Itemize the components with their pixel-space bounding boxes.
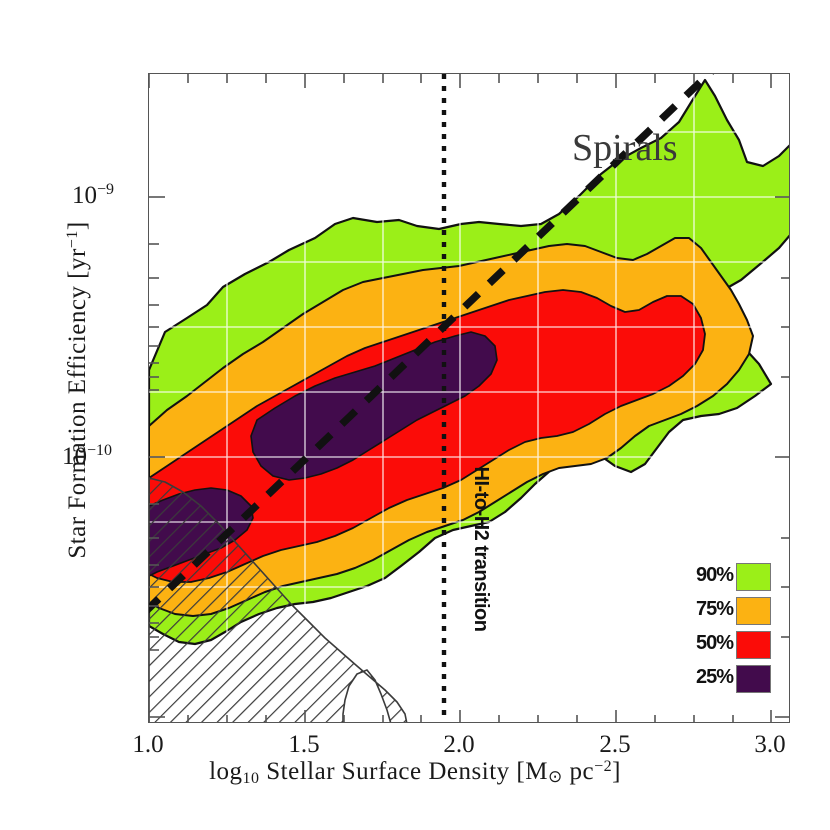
x-axis-label-exponent: −2 [594, 758, 612, 775]
spirals-annotation: Spirals [572, 126, 678, 170]
x-axis-label-subscript: 10 [243, 770, 260, 787]
x-axis-label-unit: pc [563, 758, 594, 785]
y-axis-label-main: Star Formation Efficiency [yr [64, 248, 91, 558]
figure-canvas: Star Formation Efficiency [yr−1] log10 S… [0, 0, 830, 830]
solar-mass-symbol: ⊙ [548, 767, 563, 786]
x-axis-label: log10 Stellar Surface Density [M⊙ pc−2] [0, 758, 830, 788]
legend-swatch-50 [736, 631, 771, 659]
legend-label-90: 90% [696, 564, 733, 587]
y-tick-mantissa: 10 [62, 443, 87, 470]
x-tick-label-2-0: 2.0 [434, 731, 484, 759]
x-tick-label-2-5: 2.5 [590, 731, 640, 759]
y-axis-label-exponent: −1 [64, 230, 81, 248]
legend-label-75: 75% [696, 598, 733, 621]
y-tick-exponent: −9 [97, 181, 114, 198]
x-axis-label-prefix: log [209, 758, 242, 785]
y-tick-exponent: −10 [87, 442, 112, 459]
hi-to-h2-annotation: HI-to-H2 transition [469, 444, 492, 654]
y-axis-label: Star Formation Efficiency [yr−1] [64, 40, 92, 740]
x-tick-label-1-0: 1.0 [123, 731, 173, 759]
legend-swatch-75 [736, 597, 771, 625]
y-axis-label-close: ] [64, 221, 91, 230]
x-tick-label-3-0: 3.0 [745, 731, 795, 759]
y-tick-mantissa: 10 [72, 182, 97, 209]
x-tick-label-1-5: 1.5 [279, 731, 329, 759]
legend-label-25: 25% [696, 666, 733, 689]
legend-label-50: 50% [696, 632, 733, 655]
legend-swatch-90 [736, 563, 771, 591]
legend-swatch-25 [736, 665, 771, 693]
x-axis-label-main: Stellar Surface Density [M [260, 758, 548, 785]
y-tick-label-1e-10: 10−10 [62, 442, 112, 471]
y-tick-label-1e-9: 10−9 [72, 181, 114, 210]
x-axis-label-close: ] [612, 758, 621, 785]
